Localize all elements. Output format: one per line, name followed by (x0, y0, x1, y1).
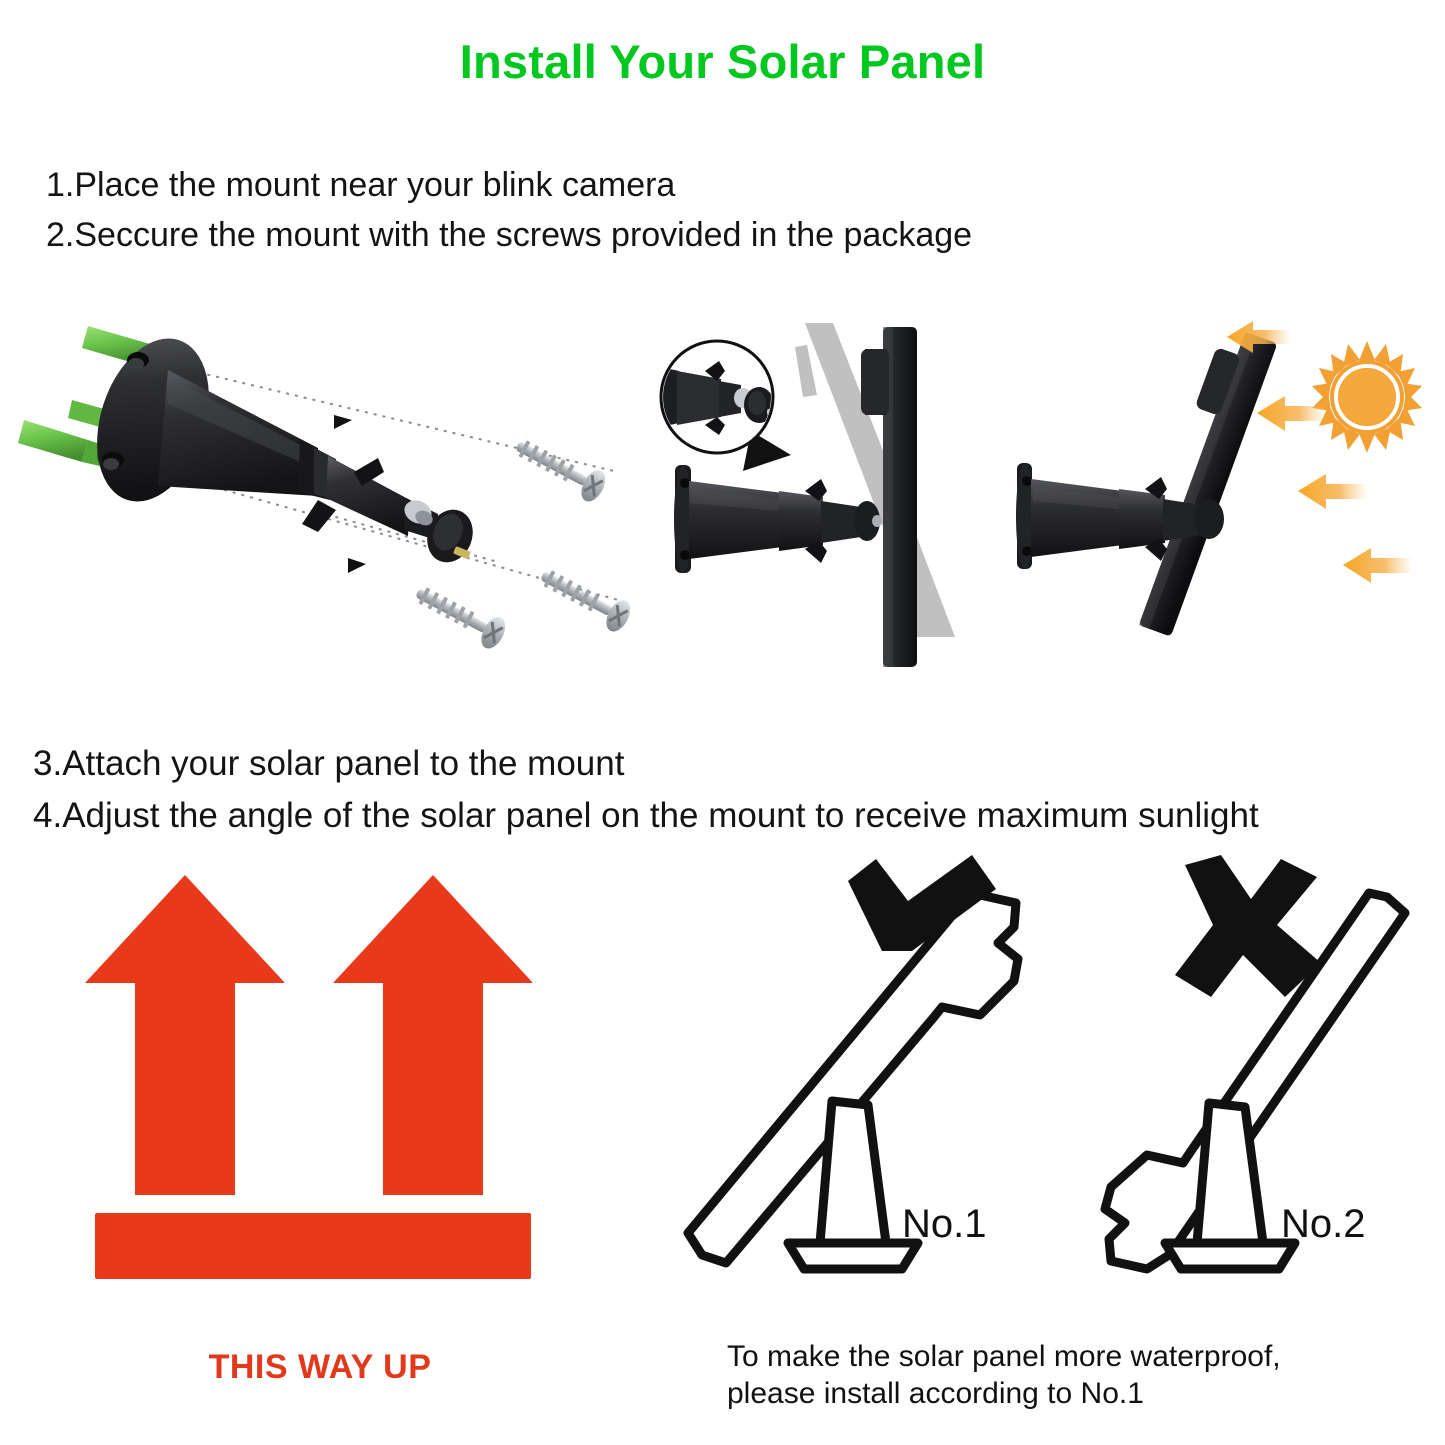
wall-mount-bracket-side (674, 465, 882, 573)
figure-adjust-angle (995, 315, 1435, 660)
instruction-sheet: Install Your Solar Panel 1.Place the mou… (0, 0, 1445, 1445)
sunlight-arrow-2 (1257, 396, 1327, 431)
sun-icon (1312, 341, 1422, 453)
wall-mount-bracket (78, 324, 481, 569)
figure-this-way-up (85, 875, 565, 1295)
figure-orientation-no2: No.2 (1065, 855, 1445, 1295)
step-4: 4.Adjust the angle of the solar panel on… (33, 790, 1433, 842)
mount-stand-outline (1165, 1103, 1295, 1269)
step-1: 1.Place the mount near your blink camera (46, 160, 1426, 210)
solar-panel-edge-view (861, 327, 917, 667)
figure-exploded-mount (18, 300, 678, 700)
screw-upper (509, 430, 610, 505)
screw-lower-left (409, 577, 510, 652)
up-arrow-left (85, 875, 285, 1195)
sunlight-arrow-4 (1343, 548, 1413, 583)
tilted-solar-panel (1118, 324, 1277, 636)
sunlight-arrow-3 (1298, 474, 1368, 509)
orientation-no1-label: No.1 (902, 1202, 987, 1246)
wall-anchor-lower (18, 420, 107, 466)
baseline-bar (95, 1213, 531, 1279)
cross-icon (1175, 855, 1321, 997)
steps-list-top: 1.Place the mount near your blink camera… (46, 160, 1426, 260)
step-3: 3.Attach your solar panel to the mount (33, 738, 1433, 790)
steps-list-bottom: 3.Attach your solar panel to the mount 4… (33, 738, 1433, 842)
screw-lower-right (534, 560, 635, 635)
waterproof-note-line-2: please install according to No.1 (727, 1375, 1427, 1412)
figure-attach-panel (655, 305, 995, 705)
this-way-up-label: THIS WAY UP (60, 1348, 580, 1387)
waterproof-note: To make the solar panel more waterproof,… (727, 1338, 1427, 1412)
mount-stand-outline (788, 1101, 918, 1269)
waterproof-note-line-1: To make the solar panel more waterproof, (727, 1338, 1427, 1375)
checkmark-icon (848, 855, 996, 951)
step-2: 2.Seccure the mount with the screws prov… (46, 210, 1426, 260)
orientation-no2-label: No.2 (1281, 1202, 1366, 1246)
magnifier-callout (661, 341, 791, 471)
page-title: Install Your Solar Panel (0, 34, 1445, 89)
up-arrow-right (333, 875, 533, 1195)
figure-orientation-no1: No.1 (680, 855, 1070, 1295)
